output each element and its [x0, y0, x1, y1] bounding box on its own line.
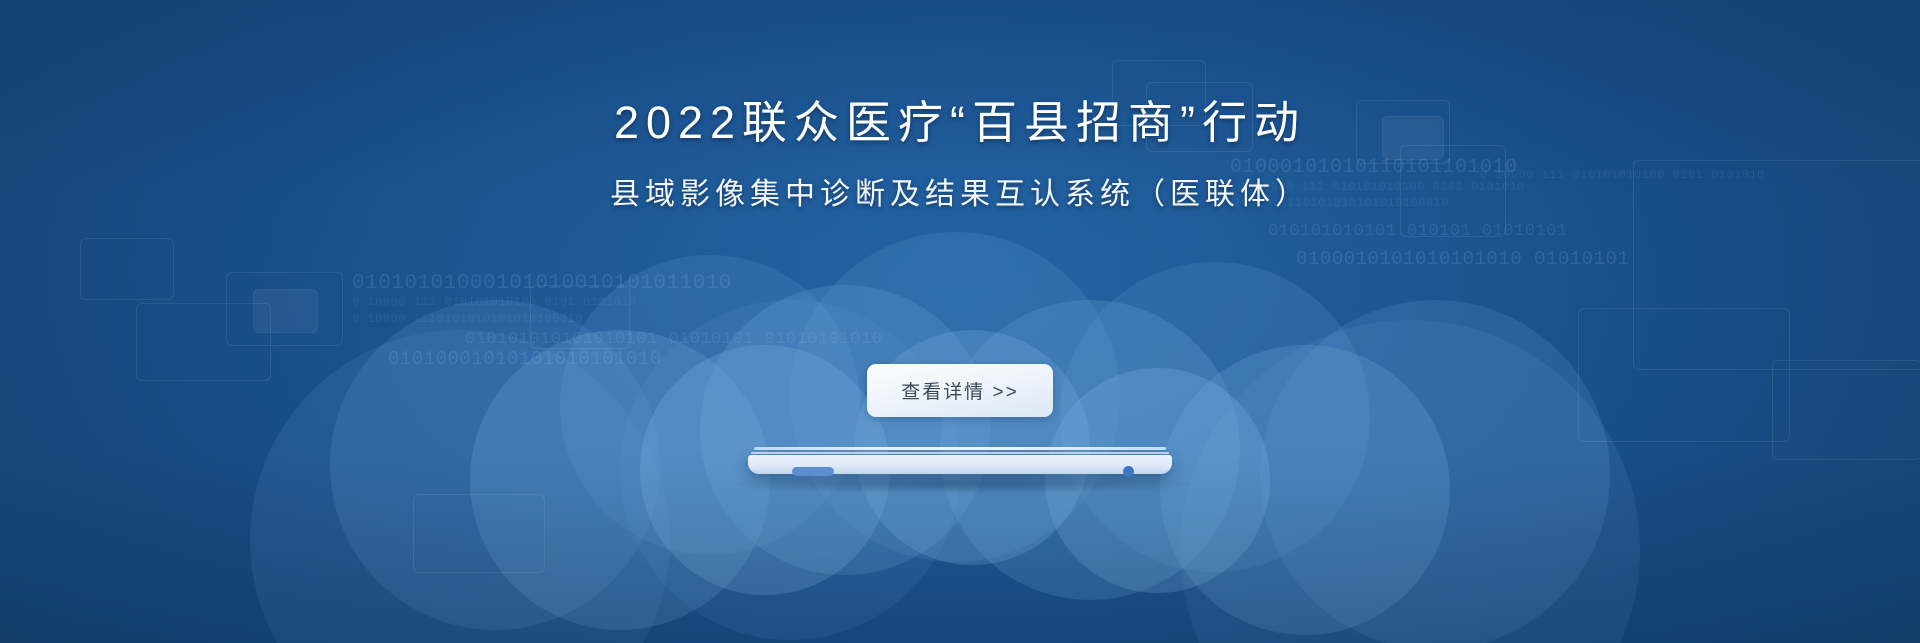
decor-rect-far-left: [80, 238, 174, 300]
page-subtitle: 县域影像集中诊断及结果互认系统（医联体）: [0, 177, 1920, 213]
laptop-lid-edge-secondary: [751, 452, 1169, 454]
cta-container: 查看详情 >>: [0, 364, 1920, 417]
laptop-indicator-light-icon: [1123, 466, 1134, 477]
view-details-button[interactable]: 查看详情 >>: [867, 364, 1052, 417]
binary-text: 0 10000 111 010101010100 0101 0101010: [352, 295, 637, 309]
laptop-illustration: [748, 447, 1172, 481]
binary-text: 010101010101 010101 01010101: [1268, 222, 1568, 241]
binary-text: 0 10000 1110101010101010100010: [352, 312, 583, 326]
page-title: 2022联众医疗“百县招商”行动: [0, 96, 1920, 149]
laptop-base: [748, 455, 1172, 474]
decor-rect-bottom-left: [413, 494, 545, 573]
laptop-speaker-bar-icon: [792, 467, 834, 476]
laptop-lid-edge: [754, 447, 1166, 450]
binary-text: 010101010101010101 01010101 01010101010: [465, 330, 882, 349]
banner-headings: 2022联众医疗“百县招商”行动 县域影像集中诊断及结果互认系统（医联体）: [0, 96, 1920, 213]
decor-rect-left-filled: [253, 289, 318, 333]
binary-text: 01010101000101010010101011010: [352, 272, 732, 295]
promo-banner: 01010101000101010010101011010 0 10000 11…: [0, 0, 1920, 643]
binary-text: 0100010101010101010 01010101: [1296, 248, 1629, 270]
